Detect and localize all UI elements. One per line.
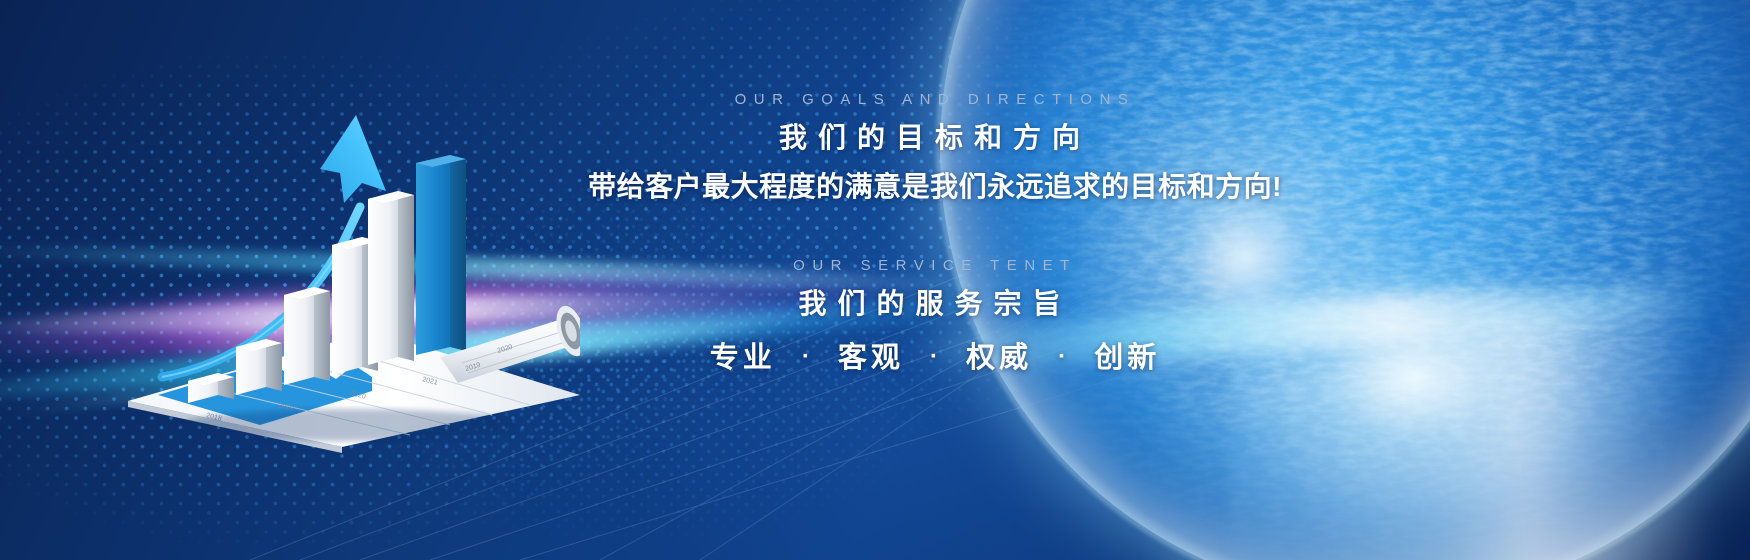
tenet-value-1: 专业 bbox=[708, 342, 778, 374]
tenet-block: OUR SERVICE TENET 我们的服务宗旨 专业 · 客观 · 权威 ·… bbox=[540, 258, 1330, 373]
goals-block: OUR GOALS AND DIRECTIONS 我们的目标和方向 带给客户最大… bbox=[540, 92, 1330, 201]
growth-chart-illustration: 2018 2019 2020 2021 bbox=[110, 95, 580, 455]
goals-subline: 带给客户最大程度的满意是我们永远追求的目标和方向! bbox=[540, 173, 1330, 201]
tenet-value-4: 创新 bbox=[1092, 342, 1162, 374]
goals-eyebrow: OUR GOALS AND DIRECTIONS bbox=[540, 92, 1330, 107]
tenet-separator-3: · bbox=[1044, 343, 1082, 370]
tenet-eyebrow: OUR SERVICE TENET bbox=[540, 258, 1330, 273]
promo-banner: 2018 2019 2020 2021 bbox=[0, 0, 1750, 560]
tenet-heading: 我们的服务宗旨 bbox=[540, 290, 1330, 318]
tenet-separator-2: · bbox=[916, 343, 954, 370]
goals-heading: 我们的目标和方向 bbox=[540, 124, 1330, 152]
tenet-value-3: 权威 bbox=[964, 342, 1034, 374]
banner-text-column: OUR GOALS AND DIRECTIONS 我们的目标和方向 带给客户最大… bbox=[540, 0, 1330, 560]
tenet-separator-1: · bbox=[788, 343, 826, 370]
tenet-value-2: 客观 bbox=[836, 342, 906, 374]
tenet-values: 专业 · 客观 · 权威 · 创新 bbox=[540, 344, 1330, 373]
